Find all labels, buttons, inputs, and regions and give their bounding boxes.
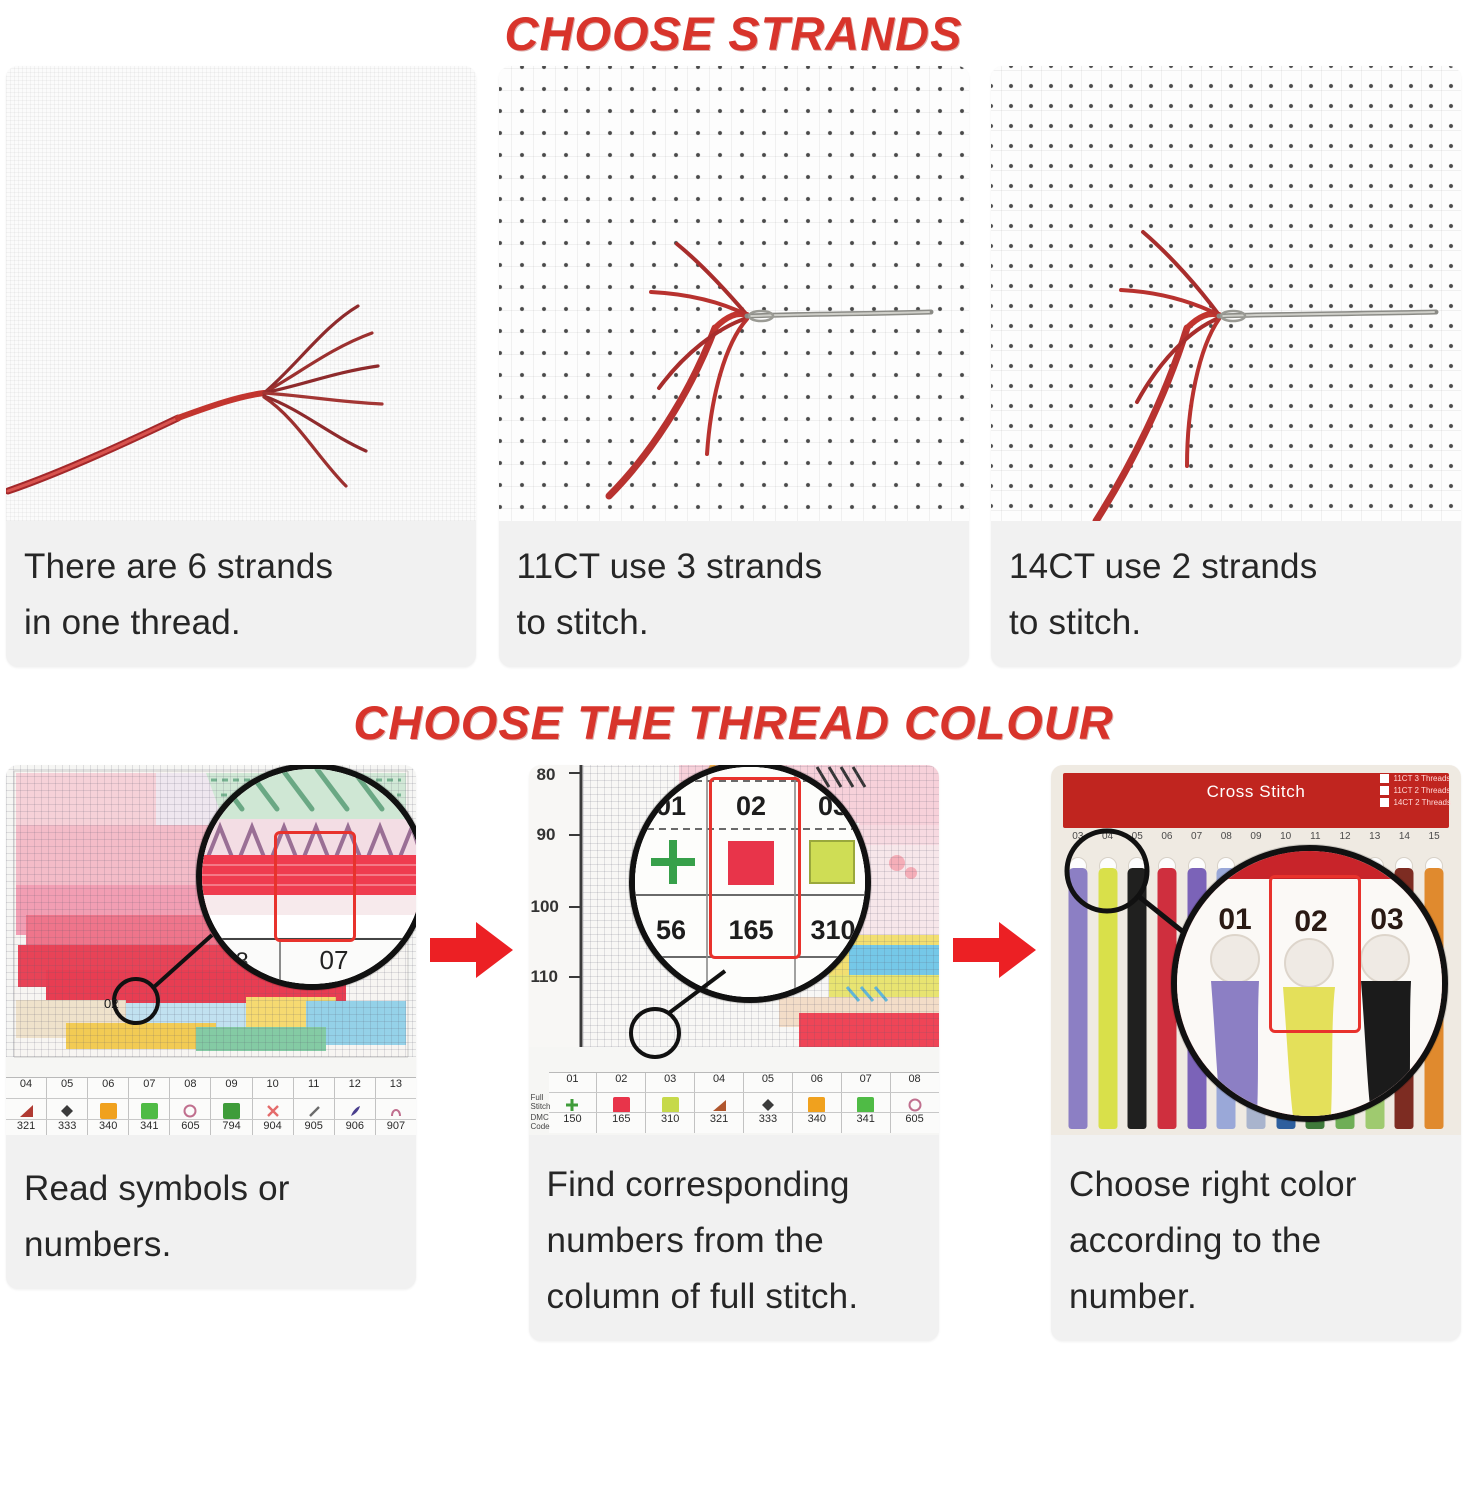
legend-number: 07 (842, 1073, 891, 1093)
legend-code: 150 (549, 1113, 598, 1133)
legend-number: 05 (47, 1078, 88, 1099)
legend-code: 165 (597, 1113, 646, 1133)
highlight-box-threads (1269, 875, 1361, 1033)
legend-symbol-cell (211, 1099, 252, 1120)
photo-six-strands (6, 66, 476, 521)
legend-number: 07 (129, 1078, 170, 1099)
legend-symbol-cell (891, 1093, 939, 1113)
caption-line: to stitch. (517, 595, 951, 651)
circle-icon (170, 1100, 210, 1121)
legend-number: 02 (597, 1073, 646, 1093)
legend-code-row: 321 333 340 341 605 794 904 905 906 907 (6, 1119, 416, 1135)
legend-symbol-cell (597, 1093, 646, 1113)
arc-icon (376, 1100, 416, 1121)
legend-symbol-cell (695, 1093, 744, 1113)
legend-symbol-cell (170, 1099, 211, 1120)
legend-symbol-cell (6, 1099, 47, 1120)
caption-read-symbols: Read symbols or numbers. (6, 1135, 416, 1289)
caption-line: Find corresponding (547, 1157, 921, 1213)
legend-symbol-cell (646, 1093, 695, 1113)
caption-line: column of full stitch. (547, 1269, 921, 1325)
diamond-icon (47, 1100, 87, 1121)
legend-code: 310 (646, 1113, 695, 1133)
caption-line: Read symbols or (24, 1161, 398, 1217)
triangle-icon (6, 1100, 46, 1121)
page-title-choose-thread-colour: CHOOSE THE THREAD COLOUR (0, 693, 1467, 751)
legend-code: 605 (891, 1113, 939, 1133)
legend-number: 06 (793, 1073, 842, 1093)
caption-line: number. (1069, 1269, 1443, 1325)
legend-code: 907 (376, 1120, 416, 1135)
legend-symbol-cell (129, 1099, 170, 1120)
photo-11ct-aida (499, 66, 969, 521)
legend-symbol-cell (549, 1093, 598, 1113)
legend-symbol-cell (376, 1099, 416, 1120)
strands-row: There are 6 strands in one thread. (0, 66, 1467, 667)
legend-code: 906 (335, 1120, 376, 1135)
card-six-strands: There are 6 strands in one thread. (6, 66, 476, 667)
caption-line: Choose right color (1069, 1157, 1443, 1213)
card-read-symbols: 8 07 02 04 05 06 07 08 09 10 11 (6, 765, 416, 1289)
magnifier-threads: 01 02 03 (1171, 845, 1448, 1122)
legend-number: 08 (170, 1078, 211, 1099)
legend-number-row: 04 05 06 07 08 09 10 11 12 13 (6, 1077, 416, 1099)
leaf-icon (335, 1100, 375, 1121)
legend-symbol-cell (793, 1093, 842, 1113)
legend-number: 06 (88, 1078, 129, 1099)
legend-number: 03 (646, 1073, 695, 1093)
legend-symbol-cell (335, 1099, 376, 1120)
legend-code: 340 (793, 1113, 842, 1133)
green-square-icon (129, 1100, 169, 1121)
slash-icon (294, 1100, 334, 1121)
arrow-1-container (424, 765, 520, 1135)
thread-strands-illustration (6, 66, 476, 521)
legend-code: 321 (6, 1120, 47, 1135)
card-choose-color: Cross Stitch 11CT 3 Threads 11CT 2 Threa… (1051, 765, 1461, 1341)
legend-number: 10 (253, 1078, 294, 1099)
legend-symbol-cell (47, 1099, 88, 1120)
legend-number: 08 (891, 1073, 939, 1093)
legend-code: 333 (47, 1120, 88, 1135)
page-title-choose-strands: CHOOSE STRANDS (0, 0, 1467, 62)
cross-icon (253, 1100, 293, 1121)
caption-line: to stitch. (1009, 595, 1443, 651)
card-find-numbers: 80 90 100 110 (529, 765, 939, 1341)
green-square-icon (211, 1100, 251, 1121)
svg-text:01: 01 (1218, 903, 1251, 936)
photo-14ct-aida (991, 66, 1461, 521)
svg-text:03: 03 (1370, 903, 1403, 936)
caption-line: 14CT use 2 strands (1009, 539, 1443, 595)
legend-code: 340 (88, 1120, 129, 1135)
legend-number: 01 (549, 1073, 598, 1093)
legend-number: 12 (335, 1078, 376, 1099)
arrow-right-icon (430, 920, 514, 980)
card-11ct: 11CT use 3 strands to stitch. (499, 66, 969, 667)
legend-symbol-cell (294, 1099, 335, 1120)
legend-number-row: 01 02 03 04 05 06 07 08 (549, 1072, 939, 1093)
legend-number: 05 (744, 1073, 793, 1093)
legend-code-row: 150 165 310 321 333 340 341 605 (549, 1112, 939, 1133)
orange-square-icon (88, 1100, 128, 1121)
caption-14ct: 14CT use 2 strands to stitch. (991, 521, 1461, 667)
legend-row-label: Full Stitch (531, 1093, 549, 1111)
legend-code: 904 (253, 1120, 294, 1135)
legend-code: 605 (170, 1120, 211, 1135)
caption-six-strands: There are 6 strands in one thread. (6, 521, 476, 667)
photo-chart-with-axis: 80 90 100 110 (529, 765, 939, 1135)
card-14ct: 14CT use 2 strands to stitch. (991, 66, 1461, 667)
caption-line: numbers from the (547, 1213, 921, 1269)
photo-thread-card: Cross Stitch 11CT 3 Threads 11CT 2 Threa… (1051, 765, 1461, 1135)
legend-number: 04 (6, 1078, 47, 1099)
legend-number: 13 (376, 1078, 416, 1099)
arrow-2-container (947, 765, 1043, 1135)
colour-row: 8 07 02 04 05 06 07 08 09 10 11 (0, 765, 1467, 1341)
legend-symbol-cell (88, 1099, 129, 1120)
legend-code: 341 (842, 1113, 891, 1133)
legend-symbol-cell (253, 1099, 294, 1120)
caption-find-numbers: Find corresponding numbers from the colu… (529, 1135, 939, 1341)
legend-symbol-row (549, 1092, 939, 1113)
svg-text:02: 02 (104, 996, 118, 1011)
caption-choose-color: Choose right color according to the numb… (1051, 1135, 1461, 1341)
legend-symbol-cell (744, 1093, 793, 1113)
legend-code: 794 (211, 1120, 252, 1135)
needle-and-floss-illustration (499, 66, 969, 521)
legend-symbol-cell (842, 1093, 891, 1113)
caption-line: 11CT use 3 strands (517, 539, 951, 595)
legend-code: 341 (129, 1120, 170, 1135)
legend-symbol-row (6, 1098, 416, 1120)
caption-11ct: 11CT use 3 strands to stitch. (499, 521, 969, 667)
caption-line: in one thread. (24, 595, 458, 651)
legend-number: 11 (294, 1078, 335, 1099)
caption-line: numbers. (24, 1217, 398, 1273)
arrow-right-icon (953, 920, 1037, 980)
needle-and-floss-illustration (991, 66, 1461, 521)
legend-code: 905 (294, 1120, 335, 1135)
caption-line: according to the (1069, 1213, 1443, 1269)
legend-code: 321 (695, 1113, 744, 1133)
photo-pattern-chart: 8 07 02 04 05 06 07 08 09 10 11 (6, 765, 416, 1135)
legend-code: 333 (744, 1113, 793, 1133)
legend-number: 04 (695, 1073, 744, 1093)
caption-line: There are 6 strands (24, 539, 458, 595)
legend-number: 09 (211, 1078, 252, 1099)
legend-row-label: DMC Code (531, 1113, 549, 1131)
